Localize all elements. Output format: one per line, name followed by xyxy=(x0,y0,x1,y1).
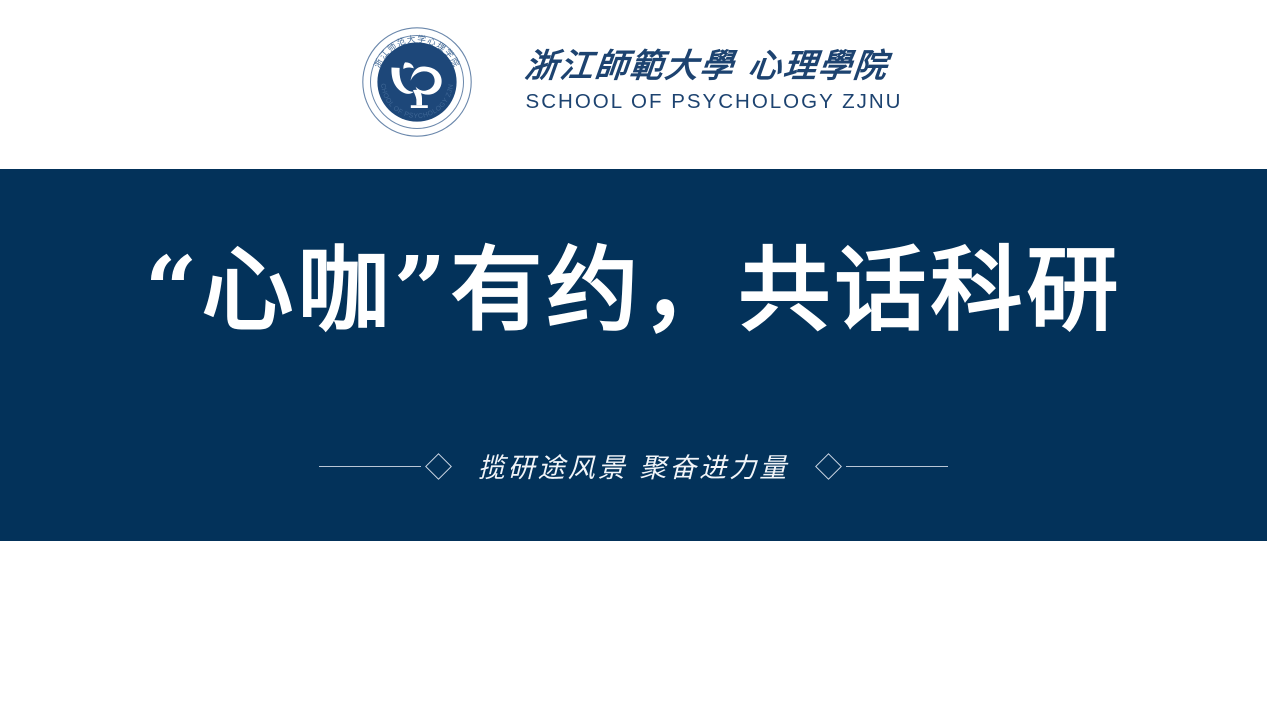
banner-title: “心咖”有约，共话科研 xyxy=(0,244,1267,336)
diamond-right-icon xyxy=(815,453,842,480)
wordmark-english: SCHOOL OF PSYCHOLOGY ZJNU xyxy=(526,90,903,115)
page-header: 浙江师范大学心理学院 SCHOOL OF PSYCHOLOGY ZJNU xyxy=(0,0,1267,169)
subtitle-rule-right xyxy=(846,466,948,467)
brand-wordmark: 浙江師範大學 心理學院 SCHOOL OF PSYCHOLOGY ZJNU xyxy=(525,48,903,115)
banner-subtitle-row: 揽研途风景 聚奋进力量 xyxy=(0,446,1267,487)
subtitle-rule-left xyxy=(319,466,421,467)
header-brand-block: 浙江师范大学心理学院 SCHOOL OF PSYCHOLOGY ZJNU xyxy=(361,26,903,138)
banner-subtitle: 揽研途风景 聚奋进力量 xyxy=(478,446,790,487)
footer-whitespace xyxy=(0,541,1267,713)
diamond-left-icon xyxy=(425,453,452,480)
wordmark-chinese: 浙江師範大學 心理學院 xyxy=(523,48,890,85)
zjnu-psychology-seal-logo: 浙江师范大学心理学院 SCHOOL OF PSYCHOLOGY ZJNU xyxy=(361,26,473,138)
